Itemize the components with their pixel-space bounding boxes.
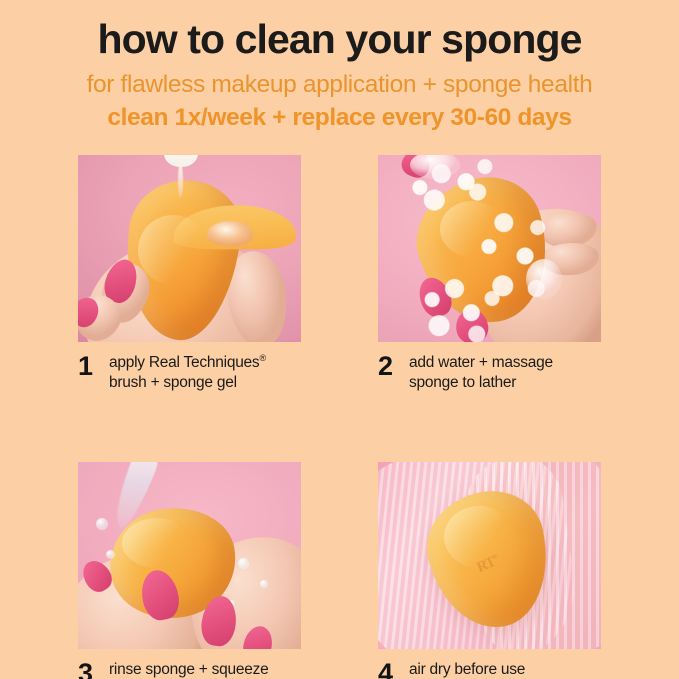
step-3: 3 rinse sponge + squeeze out excess wate…	[78, 462, 301, 679]
water-droplet	[238, 558, 249, 569]
step-1: 1 apply Real Techniques®brush + sponge g…	[78, 155, 301, 394]
gel-drip	[178, 163, 183, 197]
step-1-caption: 1 apply Real Techniques®brush + sponge g…	[78, 351, 301, 394]
step-3-caption: 3 rinse sponge + squeeze out excess wate…	[78, 658, 301, 679]
step-3-text: rinse sponge + squeeze out excess water …	[109, 658, 269, 679]
step-3-number: 3	[78, 658, 100, 679]
page-title: how to clean your sponge	[0, 17, 679, 63]
step-3-photo	[78, 462, 301, 649]
step-2-text: add water + massage sponge to lather	[409, 351, 553, 394]
step-4-caption: 4 air dry before use	[378, 658, 601, 679]
foam-lather	[408, 268, 511, 342]
header: how to clean your sponge for flawless ma…	[0, 0, 679, 134]
step-1-text: apply Real Techniques®brush + sponge gel	[109, 351, 266, 394]
step-4-photo: RT®	[378, 462, 601, 649]
steps-row-2: 3 rinse sponge + squeeze out excess wate…	[78, 462, 601, 679]
step-1-photo	[78, 155, 301, 342]
step-4-text: air dry before use	[409, 658, 525, 679]
step-4: RT® 4 air dry before use	[378, 462, 601, 679]
water-droplet	[260, 580, 268, 588]
step-2-caption: 2 add water + massage sponge to lather	[378, 351, 601, 394]
trademark-symbol: ®	[259, 353, 265, 363]
step-1-text-line1: apply Real Techniques	[109, 354, 259, 371]
step-1-number: 1	[78, 351, 100, 380]
step-1-text-line2: brush + sponge gel	[109, 374, 237, 391]
steps-grid: 1 apply Real Techniques®brush + sponge g…	[78, 155, 601, 679]
infographic-page: how to clean your sponge for flawless ma…	[0, 0, 679, 679]
steps-row-1: 1 apply Real Techniques®brush + sponge g…	[78, 155, 601, 394]
step-2-number: 2	[378, 351, 400, 380]
water-droplet	[106, 550, 115, 559]
subtitle-line-2: clean 1x/week + replace every 30-60 days	[0, 102, 679, 134]
water-droplet	[96, 518, 108, 530]
step-2: 2 add water + massage sponge to lather	[378, 155, 601, 394]
step-2-photo	[378, 155, 601, 342]
sponge-brand-logo: RT®	[474, 552, 502, 577]
subtitle-line-1: for flawless makeup application + sponge…	[0, 68, 679, 101]
step-4-number: 4	[378, 658, 400, 679]
foam-lather	[526, 259, 562, 299]
